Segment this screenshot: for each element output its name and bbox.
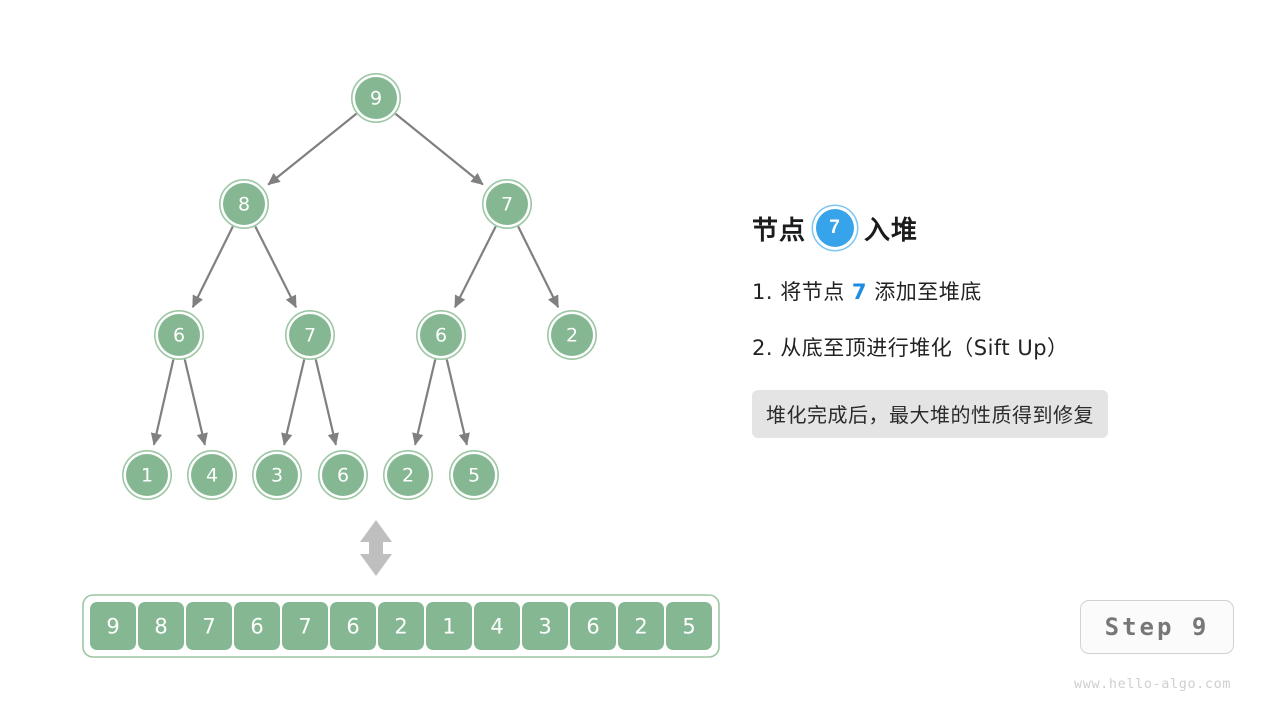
page-title: 节点 7 入堆 [752, 206, 1192, 250]
tree-node-label: 7 [501, 194, 513, 216]
array-cell[interactable]: 7 [186, 602, 232, 650]
heap-array: 9876762143625 [83, 595, 719, 657]
array-cell[interactable]: 4 [474, 602, 520, 650]
array-cell-label: 7 [298, 615, 311, 639]
array-cell[interactable]: 2 [618, 602, 664, 650]
figure-canvas: 9876762143625 9876762143625 节点 7 入堆 1. 将… [0, 0, 1280, 720]
tree-node[interactable]: 7 [286, 311, 334, 359]
tree-node[interactable]: 4 [188, 451, 236, 499]
array-cell[interactable]: 6 [570, 602, 616, 650]
watermark-text: www.hello-algo.com [1074, 676, 1231, 692]
array-cell-label: 2 [634, 615, 647, 639]
tree-node-label: 2 [566, 325, 578, 347]
array-cell-label: 2 [394, 615, 407, 639]
tree-node[interactable]: 3 [253, 451, 301, 499]
tree-edge [518, 226, 558, 307]
tree-edge [415, 359, 435, 444]
array-cell-label: 9 [106, 615, 119, 639]
array-cell[interactable]: 5 [666, 602, 712, 650]
step-line-2: 2. 从底至顶进行堆化（Sift Up） [752, 332, 1192, 362]
title-badge-value: 7 [816, 209, 854, 247]
tree-edge [193, 226, 233, 307]
tree-node-label: 7 [304, 325, 316, 347]
array-cell[interactable]: 6 [234, 602, 280, 650]
array-cell-label: 3 [538, 615, 551, 639]
tree-edge [185, 359, 205, 444]
tree-node[interactable]: 2 [384, 451, 432, 499]
array-cell[interactable]: 7 [282, 602, 328, 650]
tree-node[interactable]: 7 [483, 180, 531, 228]
tree-node[interactable]: 5 [450, 451, 498, 499]
title-suffix: 入堆 [864, 210, 918, 247]
tree-edge [395, 114, 482, 185]
tree-edge [284, 359, 304, 444]
status-badge: Step 9 [1080, 600, 1234, 654]
step-1-highlight: 7 [852, 280, 867, 304]
tree-node-label: 2 [402, 465, 414, 487]
tree-node-label: 5 [468, 465, 480, 487]
tree-node[interactable]: 2 [548, 311, 596, 359]
tree-node-label: 6 [435, 325, 447, 347]
title-prefix: 节点 [752, 210, 806, 247]
array-cell-label: 5 [682, 615, 695, 639]
array-cell-label: 1 [442, 615, 455, 639]
step-2-index: 2. [752, 336, 773, 360]
explanation-panel: 节点 7 入堆 1. 将节点 7 添加至堆底 2. 从底至顶进行堆化（Sift … [752, 206, 1192, 438]
array-cell-label: 6 [346, 615, 359, 639]
tree-node[interactable]: 6 [319, 451, 367, 499]
tree-edge [316, 359, 336, 444]
tree-edge [447, 359, 467, 444]
status-note: 堆化完成后，最大堆的性质得到修复 [752, 390, 1108, 438]
tree-node-label: 6 [337, 465, 349, 487]
array-cell[interactable]: 6 [330, 602, 376, 650]
tree-node[interactable]: 8 [220, 180, 268, 228]
tree-node[interactable]: 9 [352, 74, 400, 122]
tree-node[interactable]: 6 [417, 311, 465, 359]
tree-node-label: 1 [141, 465, 153, 487]
step-line-1: 1. 将节点 7 添加至堆底 [752, 276, 1192, 306]
tree-nodes: 9876762143625 [123, 74, 596, 499]
array-cell[interactable]: 3 [522, 602, 568, 650]
tree-node-label: 3 [271, 465, 283, 487]
tree-node[interactable]: 6 [155, 311, 203, 359]
tree-edge [268, 114, 356, 185]
array-cell-label: 8 [154, 615, 167, 639]
tree-edge [154, 359, 174, 444]
step-2-text-before: 从底至顶进行堆化（Sift Up） [780, 336, 1068, 360]
tree-node-label: 6 [173, 325, 185, 347]
tree-edge [455, 226, 496, 307]
step-1-index: 1. [752, 280, 773, 304]
array-cell[interactable]: 2 [378, 602, 424, 650]
tree-node-label: 8 [238, 194, 250, 216]
step-1-text-before: 将节点 [780, 280, 845, 304]
tree-node[interactable]: 1 [123, 451, 171, 499]
array-cell-label: 4 [490, 615, 503, 639]
tree-edges [154, 114, 558, 445]
array-cell[interactable]: 1 [426, 602, 472, 650]
tree-node-label: 9 [370, 88, 382, 110]
tree-node-label: 4 [206, 465, 218, 487]
heap-tree-diagram: 9876762143625 9876762143625 [0, 0, 740, 720]
array-cell-label: 7 [202, 615, 215, 639]
array-cell-label: 6 [250, 615, 263, 639]
array-cell-label: 6 [586, 615, 599, 639]
array-cell[interactable]: 9 [90, 602, 136, 650]
array-cell[interactable]: 8 [138, 602, 184, 650]
step-1-text-after: 添加至堆底 [874, 280, 982, 304]
up-down-arrow-icon [360, 520, 392, 576]
tree-edge [255, 226, 296, 307]
